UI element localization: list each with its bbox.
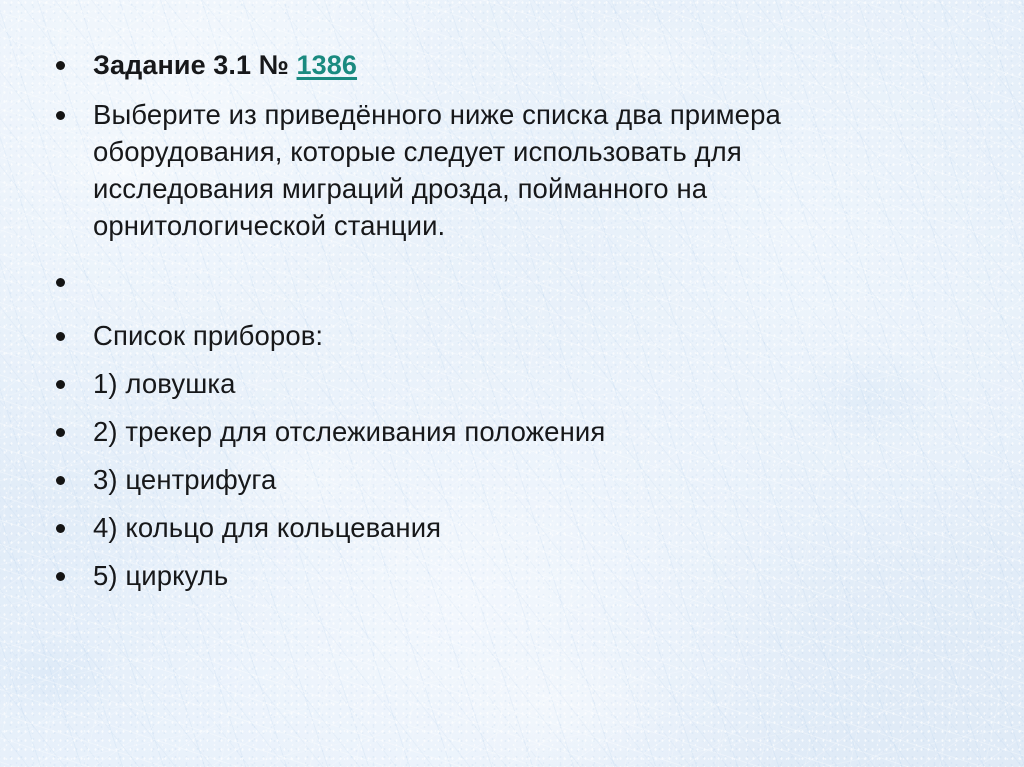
list-item-device-4: 4) кольцо для кольцевания [0,509,1024,546]
device-option-text: 2) трекер для отслеживания положения [93,413,928,450]
list-item-device-1: 1) ловушка [0,365,1024,402]
list-item-device-3: 3) центрифуга [0,461,1024,498]
device-option-text: 5) циркуль [93,557,928,594]
slide-canvas: Задание 3.1 № 1386 Выберите из приведённ… [0,0,1024,767]
slide-bullet-list: Задание 3.1 № 1386 Выберите из приведённ… [0,48,1024,594]
list-item-spacer [0,265,1024,299]
list-item-task-heading: Задание 3.1 № 1386 [0,48,1024,82]
bullet-dot-icon [56,476,65,485]
bullet-dot-icon [56,524,65,533]
list-item-devices-heading: Список приборов: [0,317,1024,354]
list-item-device-5: 5) циркуль [0,557,1024,594]
bullet-dot-icon [56,61,65,70]
task-heading-prefix: Задание 3.1 № [93,50,297,80]
list-item-question: Выберите из приведённого ниже списка два… [0,96,1024,244]
bullet-dot-icon [56,111,65,120]
question-text: Выберите из приведённого ниже списка два… [93,96,928,244]
devices-heading-text: Список приборов: [93,317,928,354]
slide-content: Задание 3.1 № 1386 Выберите из приведённ… [0,48,1024,594]
bullet-dot-icon [56,332,65,341]
device-option-text: 3) центрифуга [93,461,928,498]
bullet-dot-icon [56,380,65,389]
bullet-dot-icon [56,572,65,581]
bullet-dot-icon [56,428,65,437]
task-number-link[interactable]: 1386 [297,50,357,80]
device-option-text: 4) кольцо для кольцевания [93,509,928,546]
device-option-text: 1) ловушка [93,365,928,402]
bullet-dot-icon [56,278,65,287]
list-item-device-2: 2) трекер для отслеживания положения [0,413,1024,450]
task-heading-text: Задание 3.1 № 1386 [93,48,928,82]
